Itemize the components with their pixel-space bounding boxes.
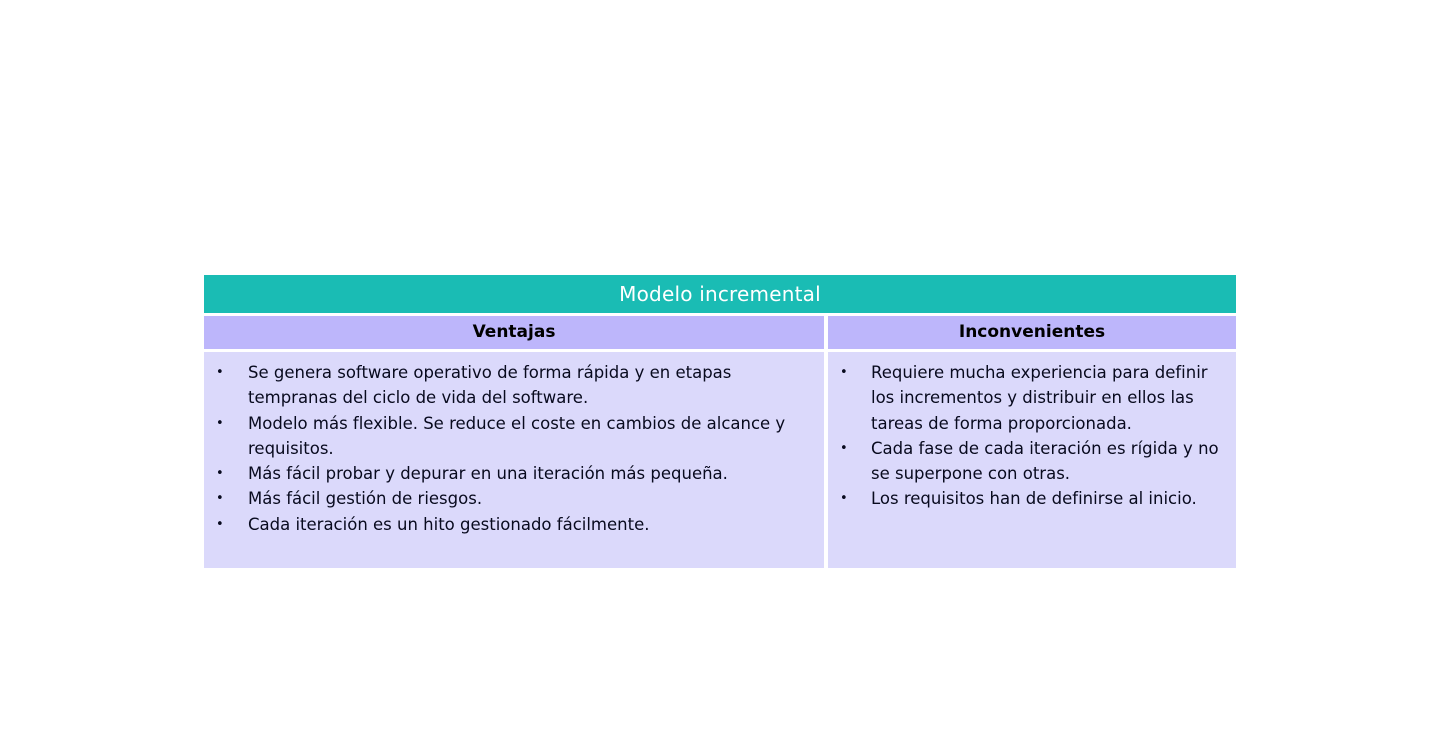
column-header-ventajas: Ventajas	[204, 316, 824, 349]
table-title: Modelo incremental	[204, 275, 1236, 313]
table-body-row: Se genera software operativo de forma rá…	[204, 352, 1236, 568]
column-body-ventajas: Se genera software operativo de forma rá…	[204, 352, 824, 568]
list-item: Cada fase de cada iteración es rígida y …	[828, 436, 1226, 487]
list-item: Se genera software operativo de forma rá…	[204, 360, 814, 411]
list-item: Más fácil gestión de riesgos.	[204, 486, 814, 511]
list-item: Más fácil probar y depurar en una iterac…	[204, 461, 814, 486]
list-item: Modelo más flexible. Se reduce el coste …	[204, 411, 814, 462]
table-header-row: Ventajas Inconvenientes	[204, 316, 1236, 349]
list-item: Los requisitos han de definirse al inici…	[828, 486, 1226, 511]
comparison-table: Modelo incremental Ventajas Inconvenient…	[204, 275, 1236, 568]
column-header-inconvenientes: Inconvenientes	[828, 316, 1236, 349]
inconvenientes-list: Requiere mucha experiencia para definir …	[828, 360, 1226, 512]
list-item: Requiere mucha experiencia para definir …	[828, 360, 1226, 436]
column-body-inconvenientes: Requiere mucha experiencia para definir …	[828, 352, 1236, 568]
ventajas-list: Se genera software operativo de forma rá…	[204, 360, 814, 537]
list-item: Cada iteración es un hito gestionado fác…	[204, 512, 814, 537]
